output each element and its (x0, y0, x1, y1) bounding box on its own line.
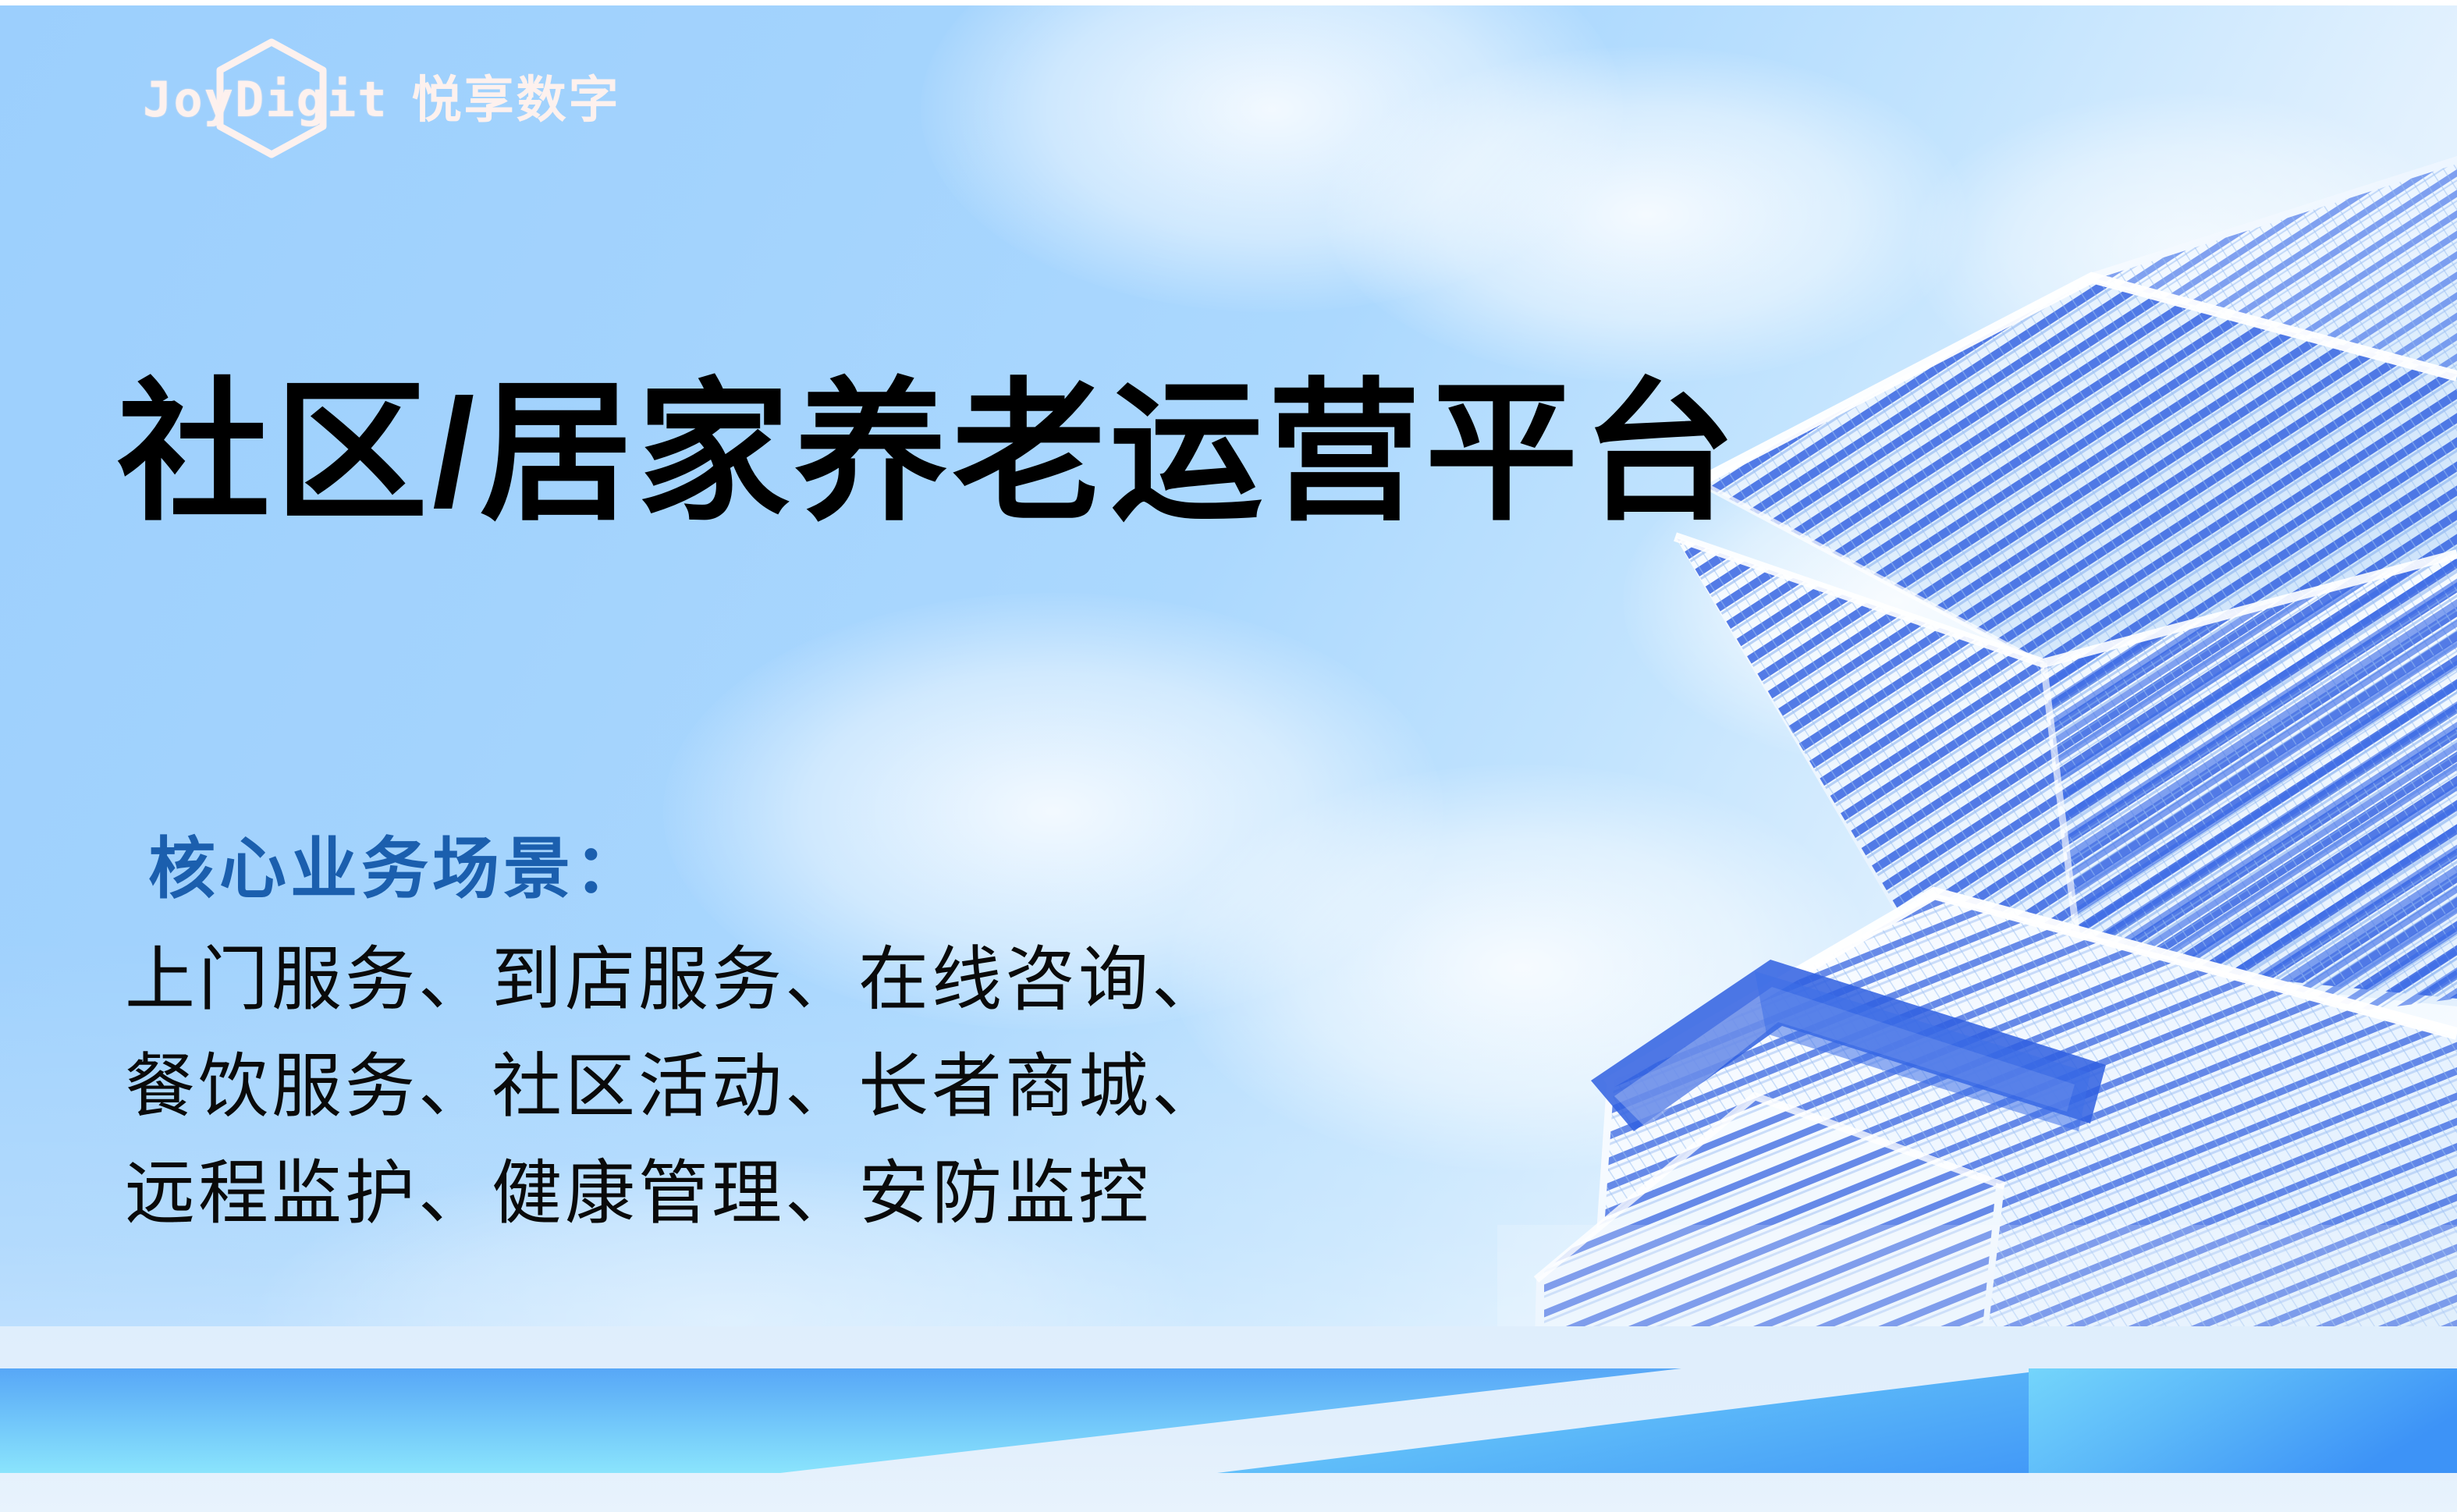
scenario-line: 远程监护、健康管理、安防监控 (125, 1141, 1225, 1248)
bottom-banner (0, 1326, 2457, 1512)
core-scenarios-list: 上门服务、到店服务、在线咨询、 餐饮服务、社区活动、长者商城、 远程监护、健康管… (125, 927, 1225, 1247)
scenario-line: 上门服务、到店服务、在线咨询、 (125, 927, 1225, 1034)
scenario-line: 餐饮服务、社区活动、长者商城、 (125, 1034, 1225, 1141)
logo-wordmark: JoyDigit (143, 76, 389, 124)
slide-canvas: JoyDigit 悦享数字 社区/居家养老运营平台 核心业务场景： 上门服务、到… (0, 0, 2457, 1512)
skyscraper-photo (1497, 117, 2457, 1428)
banner-shapes (0, 1326, 2457, 1512)
top-edge-strip (0, 0, 2457, 5)
page-title: 社区/居家养老运营平台 (117, 367, 1740, 539)
logo-chinese-name: 悦享数字 (412, 75, 621, 125)
section-heading: 核心业务场景： (148, 836, 645, 903)
brand-logo: JoyDigit 悦享数字 (143, 64, 621, 136)
